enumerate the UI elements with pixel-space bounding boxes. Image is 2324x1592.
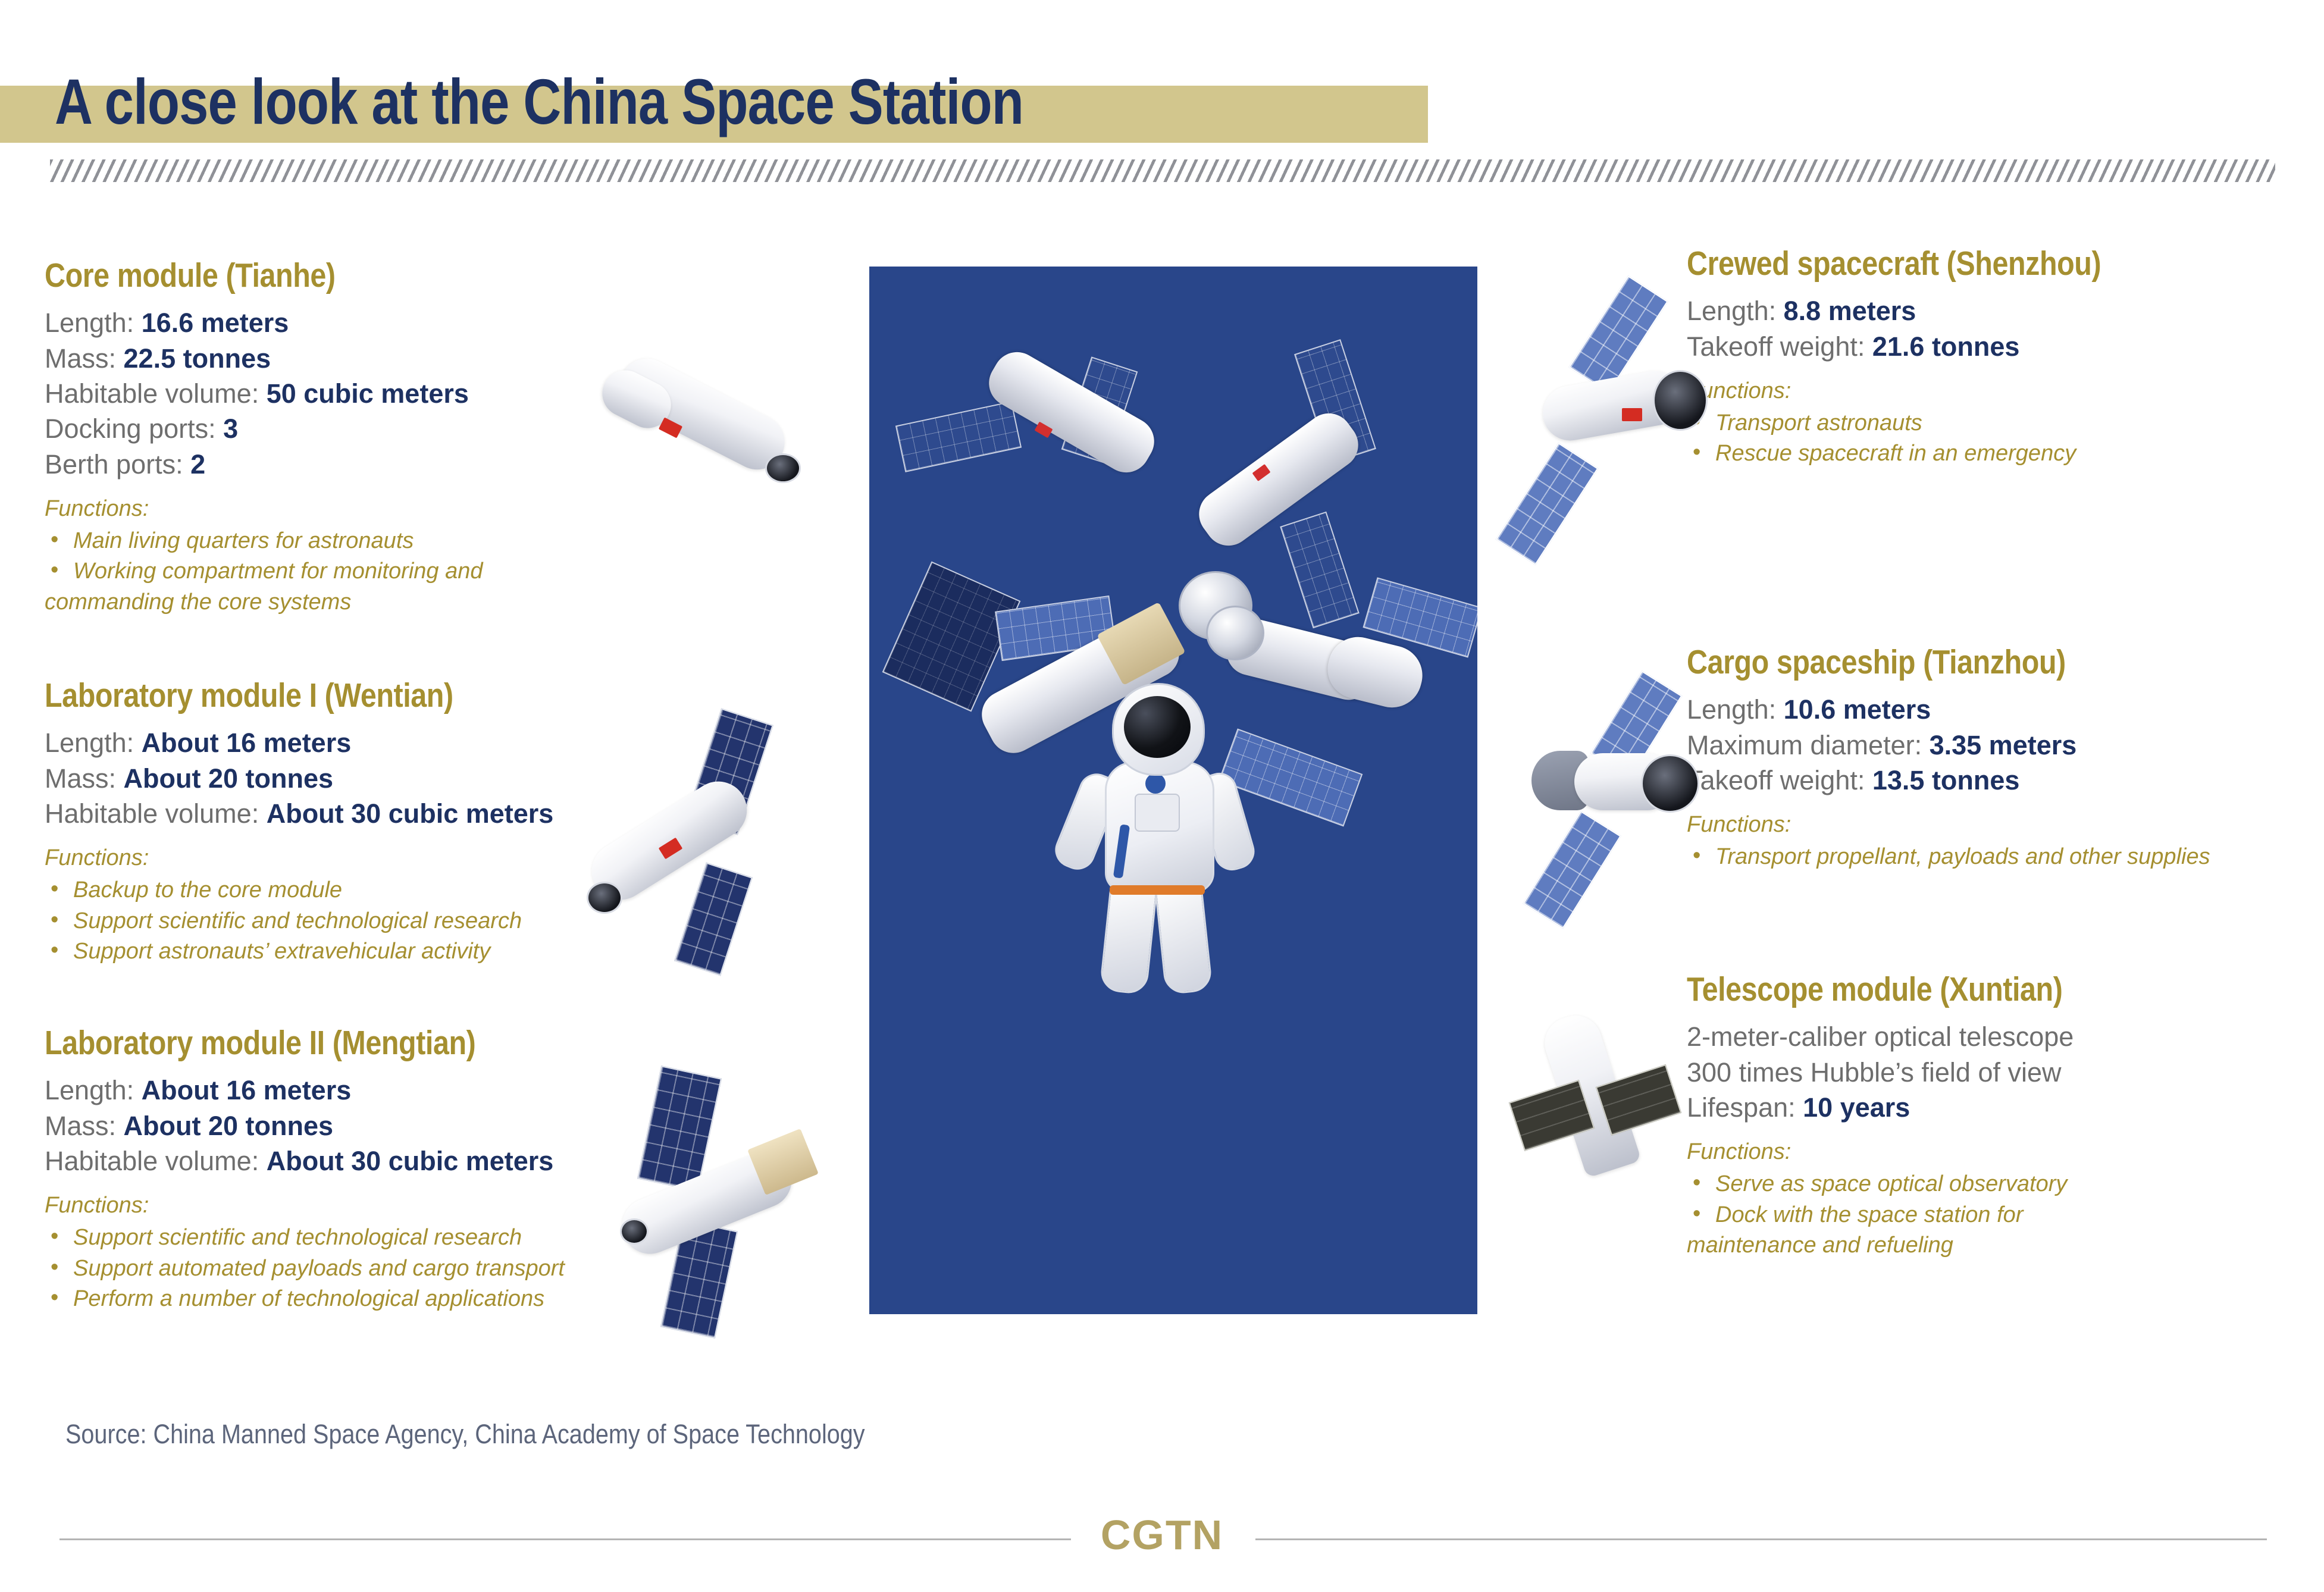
functions-list: Main living quarters for astronauts Work… xyxy=(45,526,854,618)
section-heading: Cargo spaceship (Tianzhou) xyxy=(1687,643,2198,682)
spec-value: About 16 meters xyxy=(142,728,352,758)
spec-value: About 30 cubic meters xyxy=(267,1146,554,1176)
functions-label: Functions: xyxy=(1687,811,2288,839)
source-credit: Source: China Manned Space Agency, China… xyxy=(65,1419,865,1450)
spec-row: 300 times Hubble’s field of view xyxy=(1687,1055,2288,1090)
spec-value: 8.8 meters xyxy=(1784,296,1916,326)
spec-label: Berth ports: xyxy=(45,449,190,480)
spec-value: 10.6 meters xyxy=(1784,694,1931,725)
section-heading: Telescope module (Xuntian) xyxy=(1687,970,2198,1010)
function-item: Transport astronauts xyxy=(1687,408,2288,439)
tianzhou-cargo-icon xyxy=(1517,666,1714,928)
spec-label: Length: xyxy=(45,1075,142,1105)
spec-value: 13.5 tonnes xyxy=(1872,765,2020,795)
spec-row: Lifespan: 10 years xyxy=(1687,1090,2288,1125)
spec-value: 10 years xyxy=(1803,1092,1910,1123)
astronaut-chest-panel xyxy=(1135,794,1180,832)
shenzhou-spacecraft-icon xyxy=(1505,268,1708,565)
spec-value: 21.6 tonnes xyxy=(1872,331,2020,362)
spec-value: 16.6 meters xyxy=(142,308,289,338)
spec-label: Takeoff weight: xyxy=(1687,765,1872,795)
spec-row: Maximum diameter: 3.35 meters xyxy=(1687,728,2288,763)
docking-hub xyxy=(1206,606,1264,660)
spec-label: Habitable volume: xyxy=(45,798,267,829)
spec-value: About 30 cubic meters xyxy=(267,798,554,829)
spec-label: Habitable volume: xyxy=(45,1146,267,1176)
spec-row: Takeoff weight: 13.5 tonnes xyxy=(1687,763,2288,798)
section-cargo-spaceship: Cargo spaceship (Tianzhou) Length: 10.6 … xyxy=(1687,643,2288,873)
spec-row: Takeoff weight: 21.6 tonnes xyxy=(1687,329,2288,364)
wentian-module-icon xyxy=(565,708,803,958)
spec-label: Length: xyxy=(45,308,142,338)
spec-label: Mass: xyxy=(45,1111,124,1141)
astronaut-visor xyxy=(1124,696,1191,758)
function-item: Transport propellant, payloads and other… xyxy=(1687,842,2288,873)
astronaut xyxy=(1083,683,1232,998)
astronaut-leg-right xyxy=(1154,877,1213,995)
spec-value: 22.5 tonnes xyxy=(124,343,271,374)
functions-list: Transport astronauts Rescue spacecraft i… xyxy=(1687,408,2288,469)
function-item-continuation: maintenance and refueling xyxy=(1687,1230,2288,1261)
spec-value: 3.35 meters xyxy=(1930,730,2077,760)
xuntian-telescope-icon xyxy=(1511,999,1708,1196)
section-heading: Core module (Tianhe) xyxy=(45,256,732,296)
spec-label: Maximum diameter: xyxy=(1687,730,1930,760)
space-station-illustration xyxy=(869,267,1477,1314)
spec-row: Length: 16.6 meters xyxy=(45,305,854,340)
station-assembly xyxy=(869,267,1477,1314)
spec-value: 2 xyxy=(190,449,205,480)
station-module xyxy=(1189,404,1367,555)
section-crewed-spacecraft: Crewed spacecraft (Shenzhou) Length: 8.8… xyxy=(1687,244,2288,469)
spec-label: Length: xyxy=(45,728,142,758)
page-title: A close look at the China Space Station xyxy=(55,57,1023,146)
spec-value: About 20 tonnes xyxy=(124,1111,334,1141)
mengtian-module-icon xyxy=(583,1065,821,1321)
spec-row: 2-meter-caliber optical telescope xyxy=(1687,1019,2288,1054)
page-header: A close look at the China Space Station xyxy=(0,57,2324,152)
spec-value: 50 cubic meters xyxy=(267,378,469,409)
function-item: Working compartment for monitoring and xyxy=(45,556,854,587)
function-item: Serve as space optical observatory xyxy=(1687,1169,2288,1200)
cgtn-logo: CGTN xyxy=(0,1511,2324,1559)
spec-value: 3 xyxy=(223,413,238,444)
spec-label: Docking ports: xyxy=(45,413,223,444)
function-item: Rescue spacecraft in an emergency xyxy=(1687,438,2288,469)
spec-value: About 20 tonnes xyxy=(124,763,334,794)
spec-label: 2-meter-caliber optical telescope xyxy=(1687,1021,2074,1052)
section-heading: Crewed spacecraft (Shenzhou) xyxy=(1687,244,2198,284)
astronaut-orange-stripe xyxy=(1110,885,1205,895)
solar-array xyxy=(895,401,1022,472)
astronaut-emblem xyxy=(1145,773,1166,794)
hatched-divider xyxy=(50,159,2275,182)
spec-label: Habitable volume: xyxy=(45,378,267,409)
function-item: Dock with the space station for xyxy=(1687,1200,2288,1231)
section-telescope-module: Telescope module (Xuntian) 2-meter-calib… xyxy=(1687,970,2288,1261)
spec-label: 300 times Hubble’s field of view xyxy=(1687,1057,2062,1088)
spec-value: About 16 meters xyxy=(142,1075,352,1105)
spec-row: Length: 8.8 meters xyxy=(1687,293,2288,328)
spec-label: Mass: xyxy=(45,343,124,374)
functions-list: Transport propellant, payloads and other… xyxy=(1687,842,2288,873)
spec-row: Length: 10.6 meters xyxy=(1687,692,2288,727)
spec-label: Takeoff weight: xyxy=(1687,331,1872,362)
function-item: Main living quarters for astronauts xyxy=(45,526,854,557)
functions-list: Serve as space optical observatory Dock … xyxy=(1687,1169,2288,1261)
solar-array xyxy=(1280,512,1360,629)
tianhe-module-icon xyxy=(589,345,815,512)
section-heading: Laboratory module II (Mengtian) xyxy=(45,1023,732,1063)
spec-label: Mass: xyxy=(45,763,124,794)
function-item-continuation: commanding the core systems xyxy=(45,587,854,618)
astronaut-leg-left xyxy=(1099,877,1158,995)
functions-label: Functions: xyxy=(1687,377,2288,406)
functions-label: Functions: xyxy=(1687,1138,2288,1167)
